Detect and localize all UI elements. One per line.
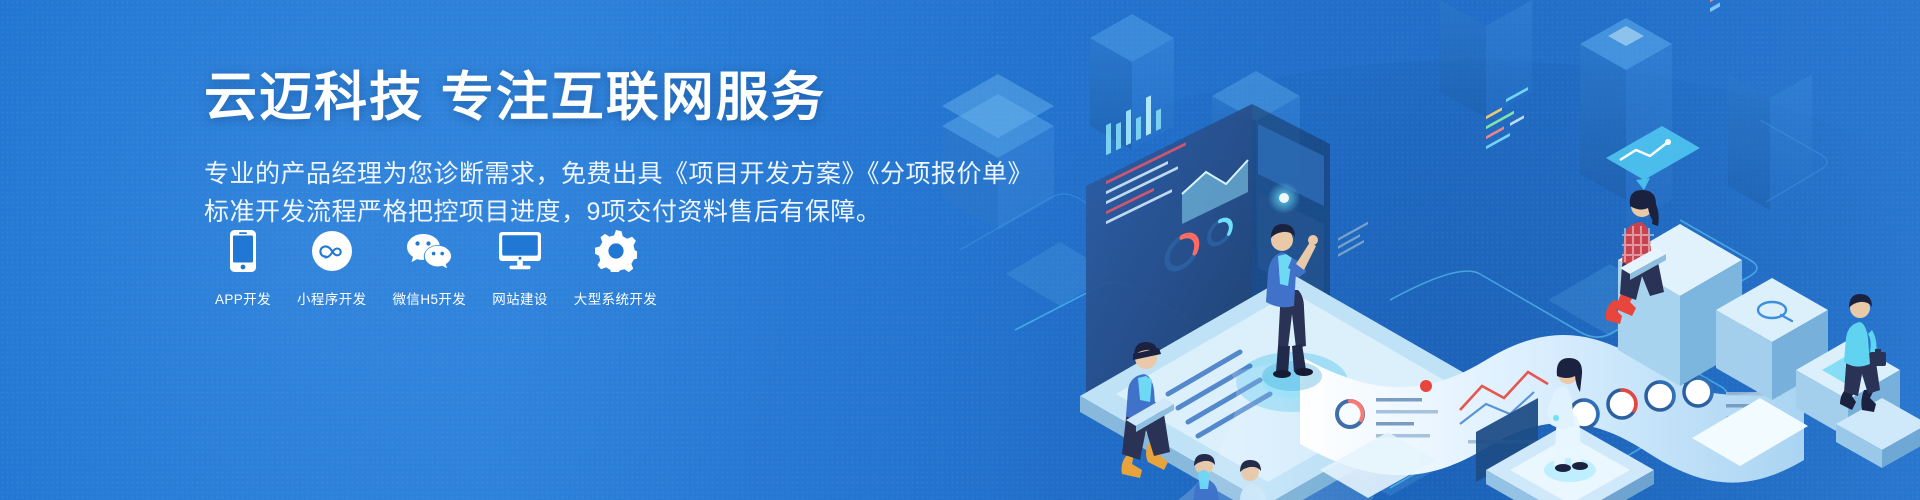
service-item-wechat-h5[interactable]: 微信H5开发 (380, 228, 480, 308)
service-item-website[interactable]: 网站建设 (479, 228, 561, 308)
subtitle-line-2: 标准开发流程严格把控项目进度，9项交付资料售后有保障。 (204, 193, 1104, 231)
banner-copy: 云迈科技 专注互联网服务 专业的产品经理为您诊断需求，免费出具《项目开发方案》《… (204, 66, 1104, 231)
service-icon-row: APP开发 小程序开发 微信 (202, 228, 670, 308)
monitor-icon (499, 228, 541, 274)
service-label: 大型系统开发 (574, 288, 657, 308)
hero-banner: 云迈科技 专注互联网服务 专业的产品经理为您诊断需求，免费出具《项目开发方案》《… (0, 0, 1920, 500)
wechat-icon (406, 228, 452, 274)
service-item-app[interactable]: APP开发 (202, 228, 284, 308)
gear-icon (595, 228, 637, 274)
service-label: 微信H5开发 (393, 288, 467, 308)
service-label: APP开发 (215, 288, 271, 308)
service-label: 小程序开发 (297, 288, 367, 308)
mini-program-icon (312, 228, 352, 274)
page-title: 云迈科技 专注互联网服务 (204, 66, 1104, 130)
service-label: 网站建设 (492, 288, 548, 308)
service-item-miniprogram[interactable]: 小程序开发 (284, 228, 380, 308)
service-item-large-system[interactable]: 大型系统开发 (561, 228, 670, 308)
mobile-phone-icon (230, 228, 256, 274)
subtitle-line-1: 专业的产品经理为您诊断需求，免费出具《项目开发方案》《分项报价单》 (204, 155, 1104, 193)
banner-subtitle: 专业的产品经理为您诊断需求，免费出具《项目开发方案》《分项报价单》 标准开发流程… (204, 155, 1104, 231)
